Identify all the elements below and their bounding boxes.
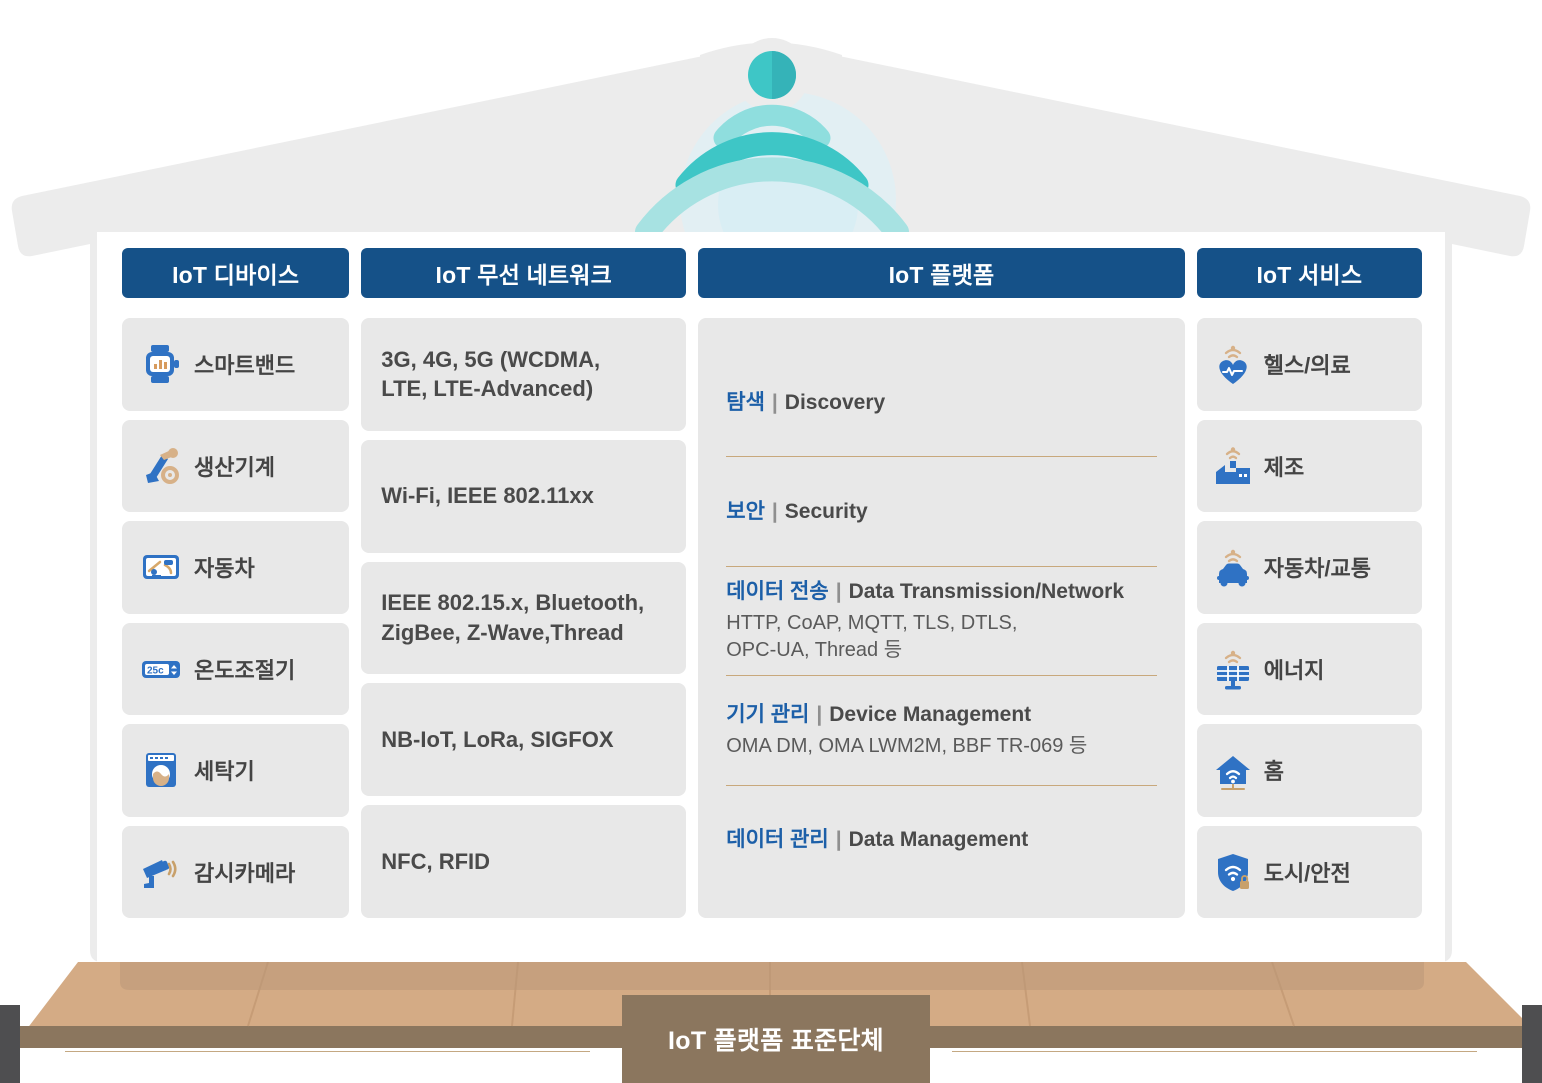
platform-row-data-management[interactable]: 데이터 관리|Data Management (726, 785, 1156, 894)
device-item-washing-machine[interactable]: 세탁기 (122, 724, 349, 817)
left-edge-bar (0, 1005, 20, 1083)
car-icon (1213, 545, 1253, 589)
column-devices: IoT 디바이스 스마트밴드 (122, 248, 349, 918)
right-edge-bar (1522, 1005, 1542, 1083)
network-text: NFC, RFID (381, 847, 490, 877)
car-dashboard-icon (140, 546, 182, 588)
separator: | (816, 703, 822, 726)
svg-text:25c: 25c (147, 665, 164, 676)
platform-row-device-management[interactable]: 기기 관리|Device Management OMA DM, OMA LWM2… (726, 675, 1156, 784)
column-header-network: IoT 무선 네트워크 (361, 248, 686, 298)
device-item-cctv-camera[interactable]: 감시카메라 (122, 826, 349, 919)
platform-row-security[interactable]: 보안|Security (726, 456, 1156, 565)
separator: | (772, 391, 778, 414)
device-label: 온도조절기 (194, 653, 295, 685)
column-header-devices: IoT 디바이스 (122, 248, 349, 298)
separator: | (836, 828, 842, 851)
device-label: 세탁기 (194, 754, 255, 786)
device-item-car-dashboard[interactable]: 자동차 (122, 521, 349, 614)
platform-sub-text: OMA DM, OMA LWM2M, BBF TR-069 등 (726, 733, 1156, 760)
platform-en-label: Security (785, 500, 868, 523)
platform-ko-label: 보안 (726, 500, 765, 523)
service-label: 홈 (1264, 754, 1284, 786)
device-label: 감시카메라 (194, 856, 295, 888)
network-text: NB-IoT, LoRa, SIGFOX (381, 725, 613, 755)
device-label: 스마트밴드 (194, 348, 295, 380)
device-item-smart-band[interactable]: 스마트밴드 (122, 318, 349, 411)
service-label: 도시/안전 (1264, 856, 1351, 888)
robot-arm-icon (140, 445, 182, 487)
platform-sub-text: HTTP, CoAP, MQTT, TLS, DTLS, OPC-UA, Thr… (726, 610, 1156, 664)
platform-ko-label: 기기 관리 (726, 703, 809, 726)
service-item-manufacturing[interactable]: 제조 (1197, 420, 1422, 513)
service-label: 헬스/의료 (1264, 348, 1351, 380)
service-item-home[interactable]: 홈 (1197, 724, 1422, 817)
thermostat-icon: 25c (140, 648, 182, 690)
home-icon (1213, 748, 1253, 792)
network-item[interactable]: NFC, RFID (361, 805, 686, 918)
service-label: 에너지 (1264, 653, 1325, 685)
column-header-platform: IoT 플랫폼 (698, 248, 1184, 298)
network-item[interactable]: 3G, 4G, 5G (WCDMA, LTE, LTE-Advanced) (361, 318, 686, 431)
column-network: IoT 무선 네트워크 3G, 4G, 5G (WCDMA, LTE, LTE-… (361, 248, 686, 918)
platform-card: 탐색|Discovery 보안|Security 데이터 전송|Data Tra… (698, 318, 1184, 918)
washing-machine-icon (140, 749, 182, 791)
service-item-health[interactable]: 헬스/의료 (1197, 318, 1422, 411)
device-item-thermostat[interactable]: 25c 온도조절기 (122, 623, 349, 716)
column-services: IoT 서비스 헬스/의료 (1197, 248, 1422, 918)
service-item-automotive[interactable]: 자동차/교통 (1197, 521, 1422, 614)
caption-tab: IoT 플랫폼 표준단체 (622, 995, 930, 1083)
service-label: 자동차/교통 (1264, 551, 1371, 583)
device-label: 생산기계 (194, 450, 275, 482)
service-item-city-safety[interactable]: 도시/안전 (1197, 826, 1422, 919)
solar-panel-icon (1213, 647, 1253, 691)
separator: | (836, 580, 842, 603)
platform-ko-label: 탐색 (726, 391, 765, 414)
heart-health-icon (1213, 342, 1253, 386)
network-item[interactable]: Wi-Fi, IEEE 802.11xx (361, 440, 686, 553)
network-item[interactable]: NB-IoT, LoRa, SIGFOX (361, 683, 686, 796)
platform-en-label: Data Transmission/Network (849, 580, 1124, 603)
platform-row-data-transmission[interactable]: 데이터 전송|Data Transmission/Network HTTP, C… (726, 566, 1156, 675)
shield-lock-icon (1213, 850, 1253, 894)
caption-rule-right (952, 1051, 1477, 1052)
platform-ko-label: 데이터 전송 (726, 580, 828, 603)
platform-ko-label: 데이터 관리 (726, 828, 828, 851)
caption-bar: IoT 플랫폼 표준단체 (0, 1005, 1542, 1083)
platform-en-label: Device Management (829, 703, 1031, 726)
caption-title: IoT 플랫폼 표준단체 (668, 1021, 884, 1057)
iot-architecture-diagram: IoT 디바이스 스마트밴드 (0, 0, 1542, 1083)
column-header-services: IoT 서비스 (1197, 248, 1422, 298)
network-text: IEEE 802.15.x, Bluetooth, ZigBee, Z-Wave… (381, 588, 644, 647)
platform-en-label: Data Management (849, 828, 1029, 851)
cctv-camera-icon (140, 851, 182, 893)
floor-shadow (120, 962, 1424, 990)
separator: | (772, 500, 778, 523)
network-text: 3G, 4G, 5G (WCDMA, LTE, LTE-Advanced) (381, 345, 600, 404)
network-text: Wi-Fi, IEEE 802.11xx (381, 481, 594, 511)
service-label: 제조 (1264, 450, 1304, 482)
network-item[interactable]: IEEE 802.15.x, Bluetooth, ZigBee, Z-Wave… (361, 562, 686, 675)
platform-row-discovery[interactable]: 탐색|Discovery (726, 348, 1156, 456)
smart-band-icon (140, 343, 182, 385)
device-item-robot-arm[interactable]: 생산기계 (122, 420, 349, 513)
wifi-antenna-icon (617, 30, 927, 245)
platform-en-label: Discovery (785, 391, 885, 414)
service-item-energy[interactable]: 에너지 (1197, 623, 1422, 716)
caption-rule-left (65, 1051, 590, 1052)
device-label: 자동차 (194, 551, 255, 583)
column-platform: IoT 플랫폼 탐색|Discovery 보안|Security (698, 248, 1184, 918)
factory-icon (1213, 444, 1253, 488)
